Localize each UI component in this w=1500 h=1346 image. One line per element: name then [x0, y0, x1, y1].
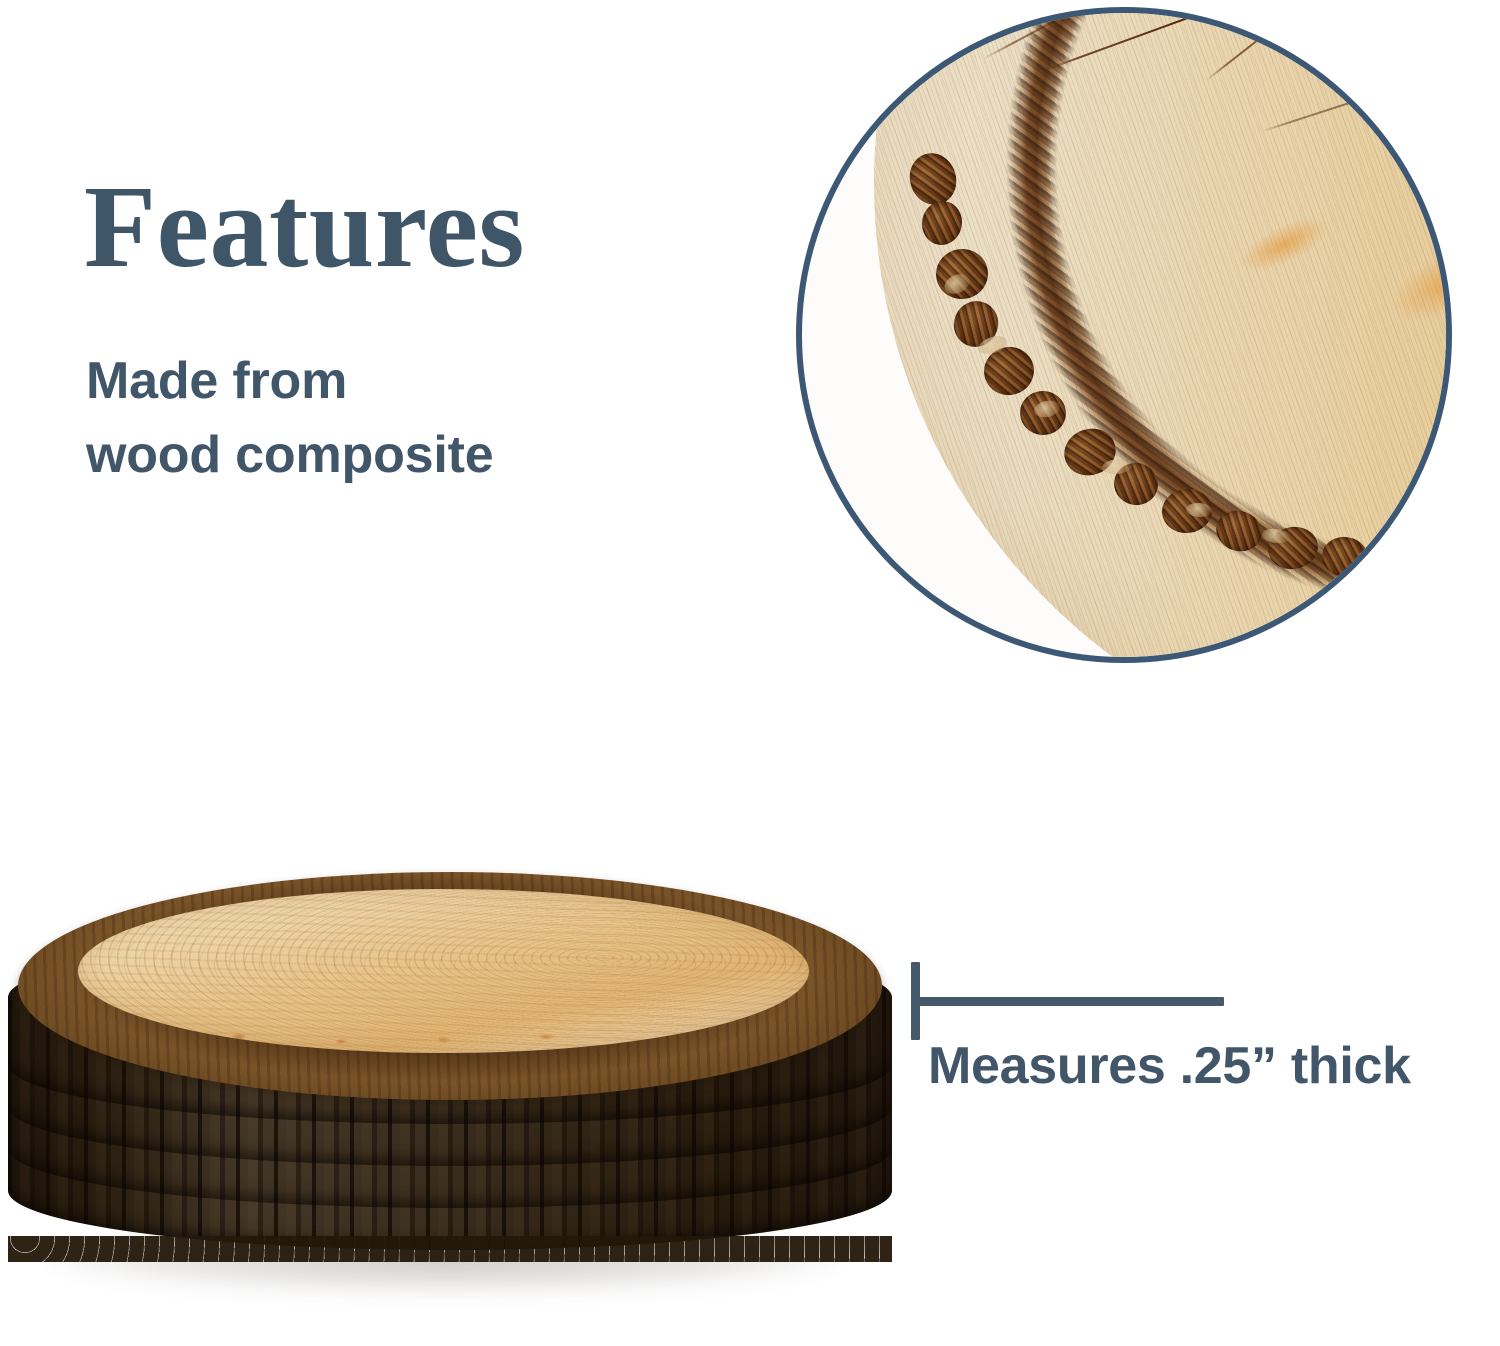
feature-description: Made from wood composite [86, 345, 493, 493]
dimension-leader-line-icon [911, 997, 1224, 1006]
stacked-wood-slice-coasters [8, 872, 892, 1302]
inset-image [802, 13, 1446, 657]
coaster-scalloped-edge [8, 1236, 892, 1262]
top-coaster-wood-face [78, 889, 808, 1053]
page-title: Features [84, 168, 525, 286]
thickness-dimension-callout: Measures .25” thick [906, 962, 1486, 1132]
top-coaster-bark-rim [18, 872, 882, 1100]
wood-slice-edge-closeup-inset [796, 7, 1452, 663]
measurement-label: Measures .25” thick [928, 1038, 1411, 1095]
